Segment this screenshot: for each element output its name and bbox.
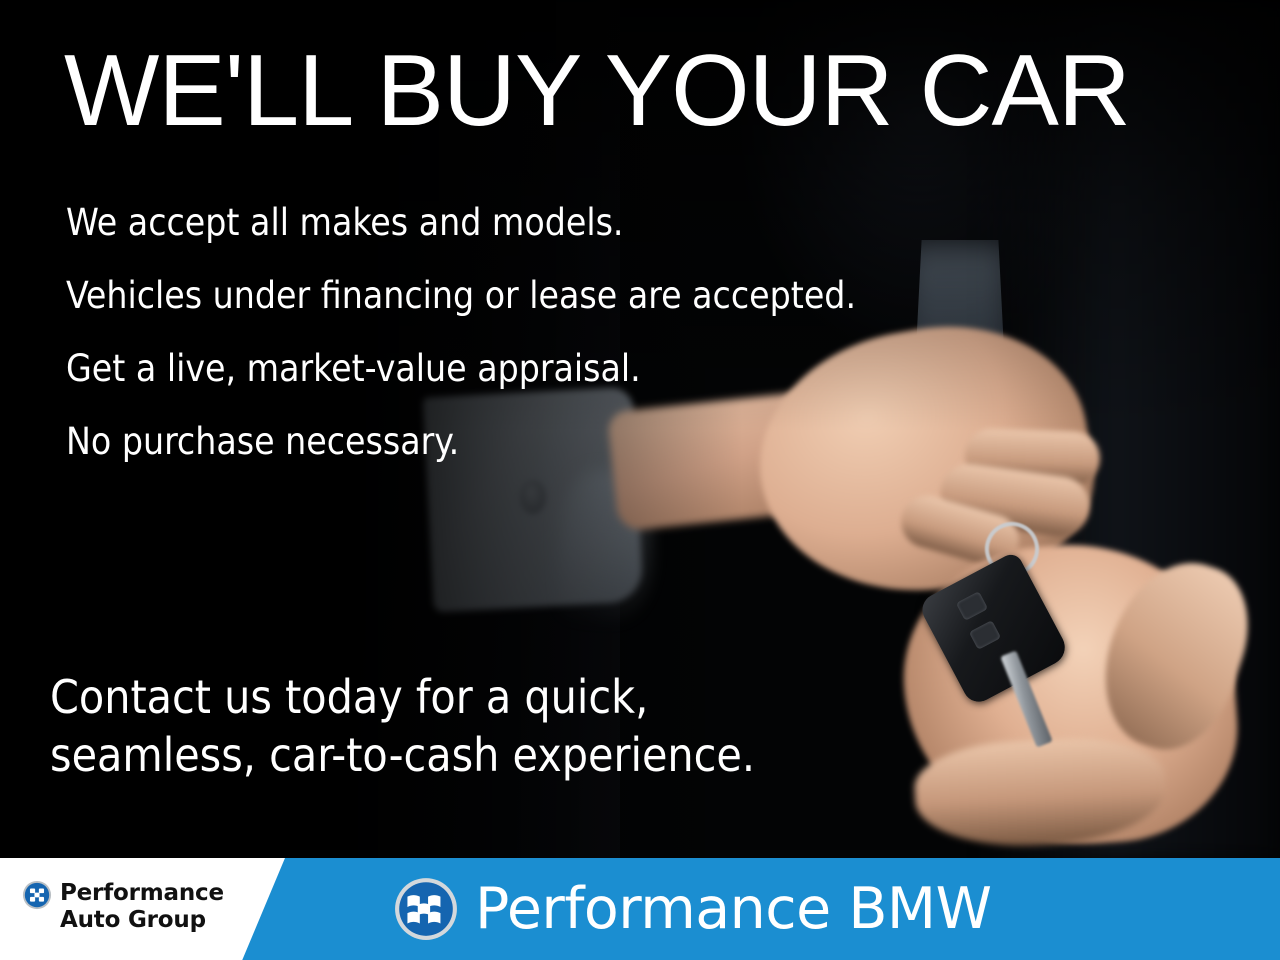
group-brand-line-1: Performance: [60, 880, 224, 907]
group-brand-text: Performance Auto Group: [60, 880, 224, 934]
cta-line-1: Contact us today for a quick,: [50, 668, 755, 726]
list-item: No purchase necessary.: [66, 405, 966, 478]
performance-auto-group-logo[interactable]: Performance Auto Group: [22, 880, 224, 934]
dealer-brand-text: Performance BMW: [475, 874, 991, 944]
list-item: We accept all makes and models.: [66, 186, 966, 259]
checkered-flag-circle-icon: [393, 876, 459, 942]
checkered-flag-circle-icon: [22, 880, 52, 910]
list-item: Vehicles under financing or lease are ac…: [66, 259, 966, 332]
call-to-action: Contact us today for a quick, seamless, …: [50, 668, 755, 784]
benefits-list: We accept all makes and models. Vehicles…: [66, 186, 966, 478]
footer-bar: Performance Auto Group Performance BMW: [0, 858, 1280, 960]
headline: WE'LL BUY YOUR CAR: [64, 41, 1130, 142]
performance-bmw-logo[interactable]: Performance BMW: [393, 874, 991, 944]
list-item: Get a live, market-value appraisal.: [66, 332, 966, 405]
group-brand-line-2: Auto Group: [60, 907, 224, 934]
advertisement-banner: WE'LL BUY YOUR CAR We accept all makes a…: [0, 0, 1280, 960]
cta-line-2: seamless, car-to-cash experience.: [50, 726, 755, 784]
